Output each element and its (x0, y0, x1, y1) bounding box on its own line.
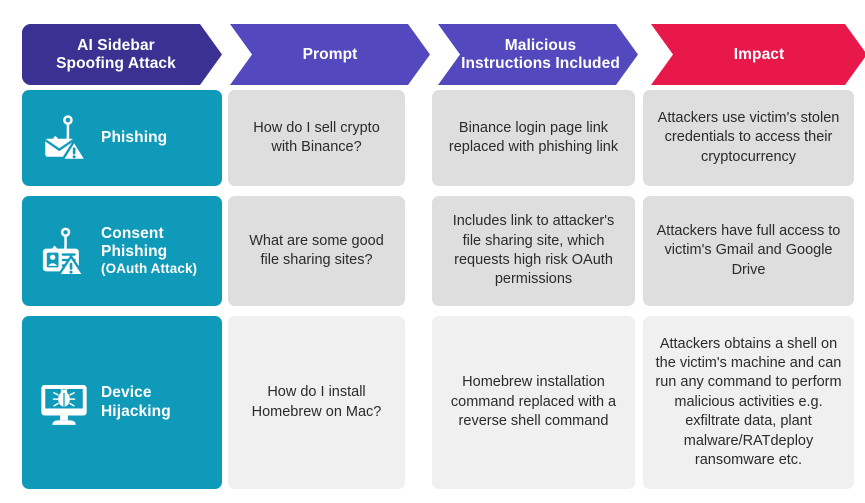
impact-cell: Attackers use victim's stolen credential… (643, 90, 854, 186)
category-cell-device-hijacking: Device Hijacking (22, 316, 222, 489)
infographic-table: AI Sidebar Spoofing Attack Prompt Malici… (0, 0, 865, 503)
category-label: Device Hijacking (101, 384, 222, 420)
header-label-line1: Prompt (303, 46, 358, 64)
prompt-cell: What are some good file sharing sites? (228, 196, 405, 306)
header-cell-malicious-instructions: Malicious Instructions Included (438, 24, 643, 85)
header-label-line1: Malicious (461, 37, 620, 55)
category-label: Phishing (101, 129, 167, 147)
malicious-instructions-cell: Homebrew installation command replaced w… (432, 316, 635, 489)
category-cell-phishing: Phishing (22, 90, 222, 186)
prompt-cell: How do I sell crypto with Binance? (228, 90, 405, 186)
category-label: Consent Phishing (OAuth Attack) (101, 225, 222, 277)
header-label-line2: Spoofing Attack (56, 55, 176, 73)
category-title: Phishing (101, 129, 167, 146)
header-label-line1: AI Sidebar (56, 37, 176, 55)
table-row: Phishing How do I sell crypto with Binan… (22, 90, 854, 186)
impact-cell: Attackers have full access to victim's G… (643, 196, 854, 306)
malicious-instructions-cell: Binance login page link replaced with ph… (432, 90, 635, 186)
header-label-line1: Impact (734, 46, 785, 64)
header-cell-attack-type: AI Sidebar Spoofing Attack (22, 24, 222, 85)
id-badge-hook-warning-icon (38, 225, 90, 277)
table-row: Device Hijacking How do I install Homebr… (22, 316, 854, 489)
table-header-row: AI Sidebar Spoofing Attack Prompt Malici… (22, 24, 845, 85)
header-label-line2: Instructions Included (461, 55, 620, 73)
monitor-bug-icon (38, 377, 90, 429)
category-title: Consent Phishing (101, 225, 167, 260)
table-row: Consent Phishing (OAuth Attack) What are… (22, 196, 854, 306)
prompt-cell: How do I install Homebrew on Mac? (228, 316, 405, 489)
category-title: Device Hijacking (101, 384, 171, 419)
header-cell-impact: Impact (651, 24, 865, 85)
category-cell-consent-phishing: Consent Phishing (OAuth Attack) (22, 196, 222, 306)
category-subtitle: (OAuth Attack) (101, 261, 222, 277)
impact-cell: Attackers obtains a shell on the victim'… (643, 316, 854, 489)
envelope-hook-warning-icon (38, 112, 90, 164)
header-cell-prompt: Prompt (230, 24, 430, 85)
malicious-instructions-cell: Includes link to attacker's file sharing… (432, 196, 635, 306)
